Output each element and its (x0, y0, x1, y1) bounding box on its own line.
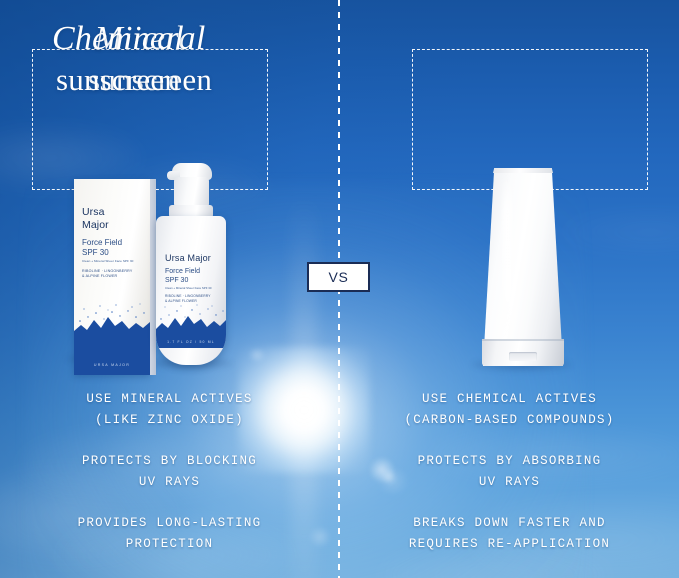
chemical-benefit-list: USE CHEMICAL ACTIVES (CARBON-BASED COMPO… (340, 389, 679, 554)
mineral-product-bottle: Ursa Major Force Field SPF 30 Clean + Mi… (152, 160, 230, 365)
bullet-line: PROTECTS BY BLOCKING (0, 451, 339, 472)
bullet-line: USE CHEMICAL ACTIVES (340, 389, 679, 410)
bullet-line: PROVIDES LONG-LASTING (0, 513, 339, 534)
carton-product-name: Force Field SPF 30 (82, 238, 122, 257)
mineral-product-carton: Ursa Major Force Field SPF 30 Clean + Mi… (74, 179, 150, 375)
tube-seal (493, 168, 553, 173)
comparison-infographic: Mineral sunscreen Chemical sunscreen Urs… (0, 0, 679, 578)
list-item: USE CHEMICAL ACTIVES (CARBON-BASED COMPO… (340, 389, 679, 430)
carton-footer-text: URSA MAJOR (74, 363, 150, 367)
bullet-line: (LIKE ZINC OXIDE) (0, 410, 339, 431)
tube-cap (482, 339, 564, 366)
bottle-base (156, 348, 226, 365)
chemical-heading-word: sunscreen (0, 60, 278, 100)
list-item: PROVIDES LONG-LASTING PROTECTION (0, 513, 339, 554)
pump-collar (174, 177, 209, 207)
carton-description: Clean + Mineral Sheer Face SPF 30 (82, 259, 142, 263)
bottle-brand-name: Ursa Major (165, 253, 211, 263)
bottle-description: Clean + Mineral Sheer Face SPF 30 (165, 286, 219, 290)
versus-badge: VS (307, 262, 370, 292)
list-item: BREAKS DOWN FASTER AND REQUIRES RE-APPLI… (340, 513, 679, 554)
tube-cap-slot (509, 352, 537, 361)
chemical-heading-emphasis: Chemical (0, 18, 278, 60)
bullet-line: REQUIRES RE-APPLICATION (340, 534, 679, 555)
chemical-product-tube (483, 168, 563, 366)
bottle-product-name: Force Field SPF 30 (165, 268, 200, 285)
bullet-line: PROTECTION (0, 534, 339, 555)
mineral-product-group: Ursa Major Force Field SPF 30 Clean + Mi… (60, 160, 260, 365)
list-item: PROTECTS BY BLOCKING UV RAYS (0, 451, 339, 492)
bullet-line: (CARBON-BASED COMPOUNDS) (340, 410, 679, 431)
bullet-line: BREAKS DOWN FASTER AND (340, 513, 679, 534)
tube-body (483, 168, 563, 366)
carton-brand-name: Ursa Major (82, 206, 109, 231)
bottle-volume-text: 1.7 FL OZ / 50 ML (156, 340, 226, 344)
bullet-line: UV RAYS (340, 472, 679, 493)
bottle-body: Ursa Major Force Field SPF 30 Clean + Mi… (156, 216, 226, 365)
mineral-benefit-list: USE MINERAL ACTIVES (LIKE ZINC OXIDE) PR… (0, 389, 339, 554)
list-item: PROTECTS BY ABSORBING UV RAYS (340, 451, 679, 492)
tube-highlight (503, 175, 512, 335)
list-item: USE MINERAL ACTIVES (LIKE ZINC OXIDE) (0, 389, 339, 430)
bullet-line: PROTECTS BY ABSORBING (340, 451, 679, 472)
bottle-ingredients: RIBOLINE · LINGONBERRY & ALPINE FLOWER (165, 294, 219, 303)
chemical-heading: Chemical sunscreen (0, 18, 278, 100)
carton-ingredients: RIBOLINE · LINGONBERRY & ALPINE FLOWER (82, 269, 142, 279)
bullet-line: USE MINERAL ACTIVES (0, 389, 339, 410)
bullet-line: UV RAYS (0, 472, 339, 493)
